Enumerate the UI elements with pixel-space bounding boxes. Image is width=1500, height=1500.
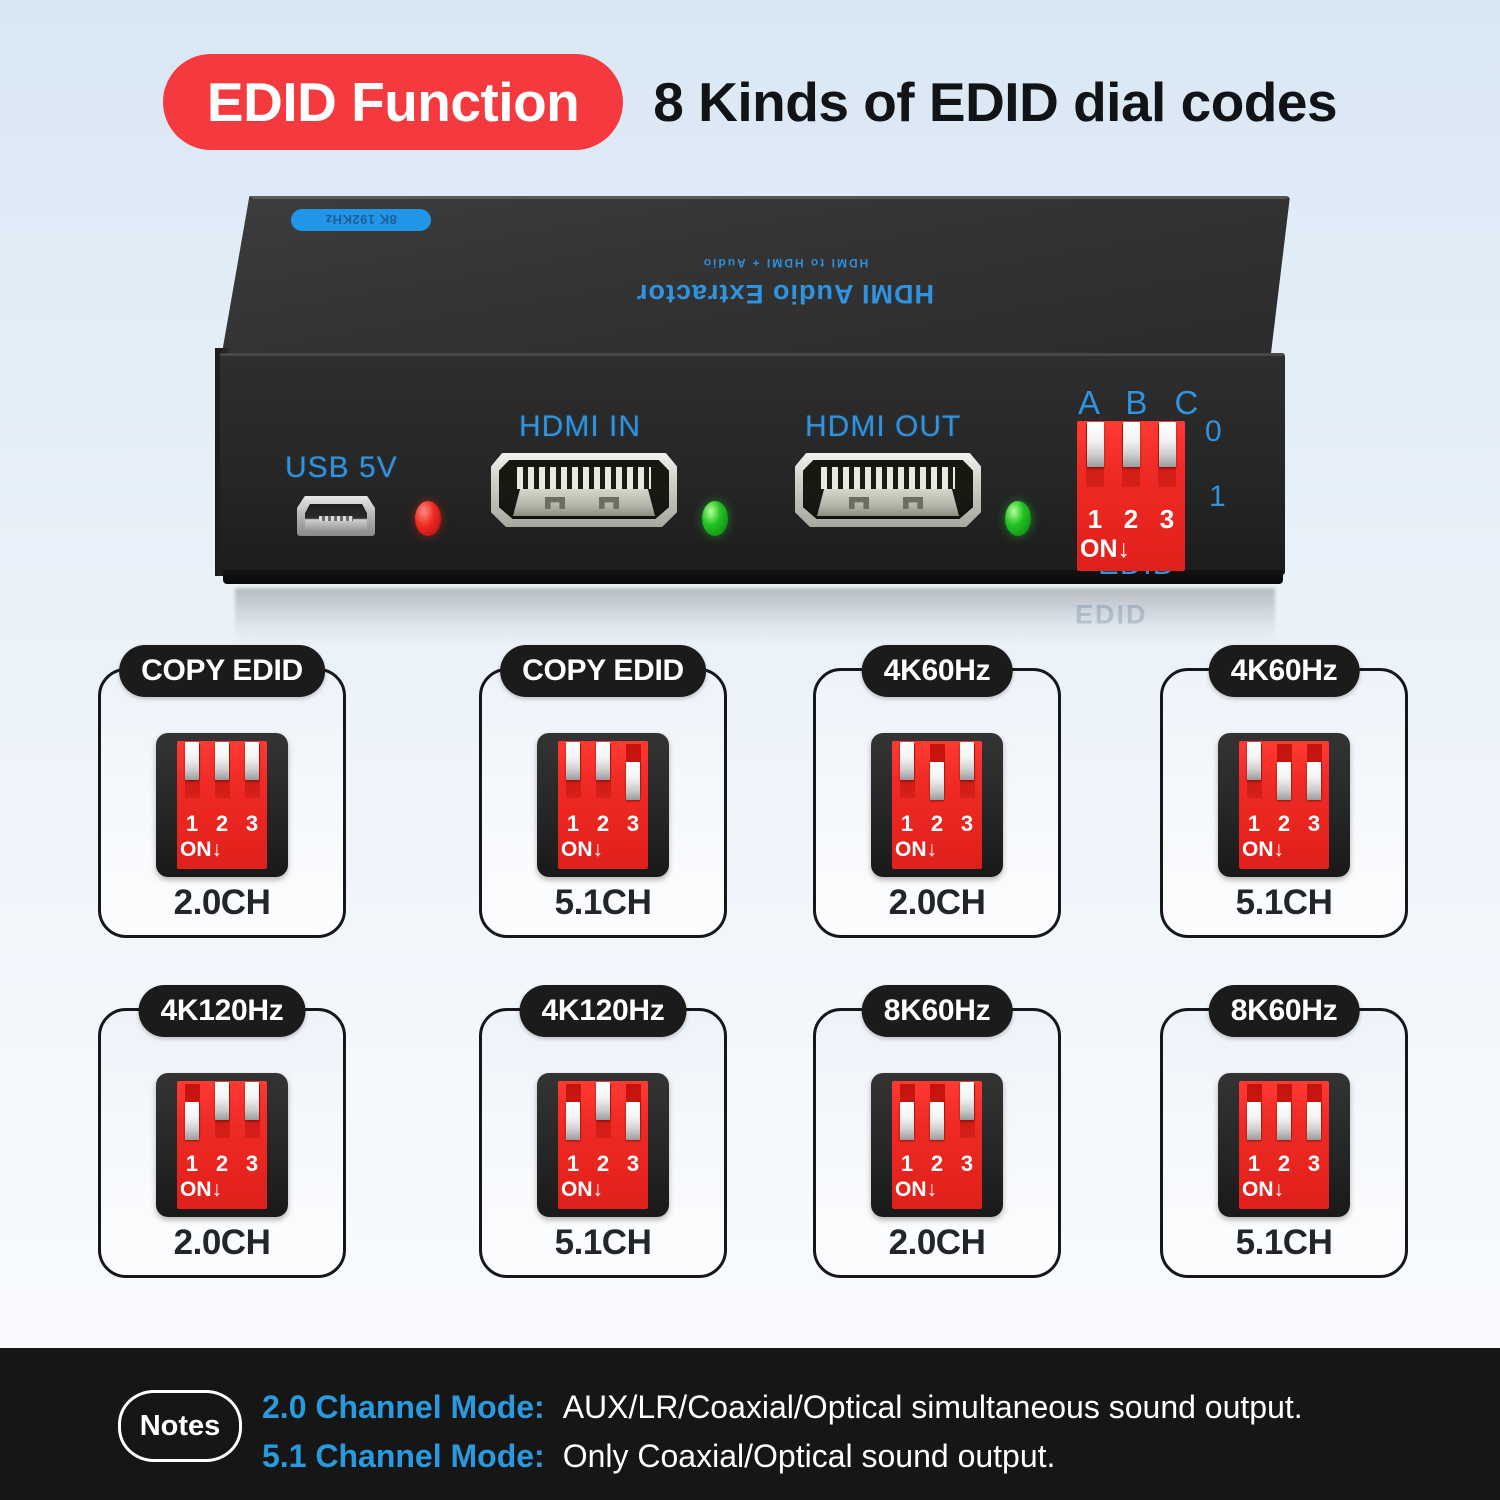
dip-switch[interactable]: 123ON↓ [177, 1081, 267, 1209]
dip-number-label: 3 [1149, 504, 1185, 535]
dial-code-card[interactable]: 8K60Hz123ON↓2.0CH [813, 1008, 1061, 1278]
dial-code-card[interactable]: COPY EDID123ON↓5.1CH [479, 668, 727, 938]
device-illustration: 8K 192KHz HDMI to HDMI + Audio HDMI Audi… [215, 196, 1305, 636]
dip-on-label: ON↓ [561, 1178, 603, 1202]
usb-port-label: USB 5V [285, 451, 398, 485]
edid-function-pill: EDID Function [163, 54, 623, 150]
usb-micro-port [297, 496, 375, 536]
dip-number-label: 2 [922, 1151, 952, 1177]
notes-badge: Notes [118, 1390, 242, 1462]
device-dip-pos-0-label: 0 [1205, 415, 1222, 449]
dial-code-pill: 8K60Hz [862, 985, 1013, 1037]
dial-code-pill-label: COPY EDID [522, 654, 684, 688]
dip-number-label: 3 [237, 811, 267, 837]
channel-mode-label: 5.1CH [482, 883, 724, 923]
dip-lever-1[interactable] [185, 1102, 199, 1140]
dip-lever-2[interactable] [930, 1102, 944, 1140]
hdmi-out-pins [821, 467, 955, 489]
notes-footer: Notes 2.0 Channel Mode: AUX/LR/Coaxial/O… [0, 1348, 1500, 1500]
device-dip-switch[interactable]: 123ON↓ [1077, 421, 1185, 571]
channel-mode-label: 2.0CH [101, 1223, 343, 1263]
dip-lever-3[interactable] [1307, 1102, 1321, 1140]
dip-lever-3[interactable] [1159, 422, 1176, 467]
note-value: Only Coaxial/Optical sound output. [563, 1438, 1056, 1475]
channel-mode-label: 2.0CH [816, 883, 1058, 923]
dial-code-card[interactable]: 4K60Hz123ON↓5.1CH [1160, 668, 1408, 938]
dip-lever-3[interactable] [1307, 762, 1321, 800]
dip-number-label: 2 [588, 811, 618, 837]
dial-code-card[interactable]: 4K120Hz123ON↓2.0CH [98, 1008, 346, 1278]
dial-code-pill: COPY EDID [500, 645, 706, 697]
device-top-title: HDMI Audio Extractor [385, 278, 1185, 309]
dip-number-label: 2 [207, 1151, 237, 1177]
dip-lever-3[interactable] [245, 742, 259, 780]
edid-dial-code-grid: COPY EDID123ON↓2.0CHCOPY EDID123ON↓5.1CH… [98, 668, 1408, 1288]
dip-lever-2[interactable] [215, 742, 229, 780]
note-row: 5.1 Channel Mode: Only Coaxial/Optical s… [262, 1438, 1055, 1475]
dip-lever-1[interactable] [185, 742, 199, 780]
dip-lever-1[interactable] [566, 742, 580, 780]
dial-code-pill-label: 4K60Hz [1231, 654, 1338, 688]
power-led-red [415, 501, 441, 536]
device-spec-badge: 8K 192KHz [291, 209, 431, 231]
dip-lever-2[interactable] [1277, 762, 1291, 800]
edid-function-label: EDID Function [207, 70, 579, 134]
device-reflection-label: EDID [1075, 598, 1148, 629]
dip-lever-2[interactable] [1277, 1102, 1291, 1140]
dip-lever-3[interactable] [960, 742, 974, 780]
dip-switch-housing: 123ON↓ [537, 733, 669, 877]
dip-number-label: 1 [1239, 811, 1269, 837]
channel-mode-label: 2.0CH [101, 883, 343, 923]
dip-switch-housing: 123ON↓ [156, 1073, 288, 1217]
dip-number-label: 1 [892, 1151, 922, 1177]
dip-lever-1[interactable] [566, 1102, 580, 1140]
dial-code-pill-label: 8K60Hz [884, 994, 991, 1028]
dial-code-pill-label: 4K60Hz [884, 654, 991, 688]
dip-on-label: ON↓ [1080, 535, 1130, 564]
dip-number-label: 2 [1269, 811, 1299, 837]
dial-code-pill: 8K60Hz [1209, 985, 1360, 1037]
dip-number-label: 2 [922, 811, 952, 837]
dip-number-label: 3 [237, 1151, 267, 1177]
dip-number-label: 1 [558, 1151, 588, 1177]
dip-switch-housing: 123ON↓ [871, 1073, 1003, 1217]
device-spec-badge-label: 8K 192KHz [325, 213, 397, 228]
dip-on-label: ON↓ [561, 838, 603, 862]
hdmi-out-port [795, 453, 981, 527]
note-key: 5.1 Channel Mode: [262, 1438, 545, 1475]
channel-mode-label: 5.1CH [1163, 883, 1405, 923]
device-front-edge [220, 353, 1285, 356]
dial-code-pill-label: 8K60Hz [1231, 994, 1338, 1028]
dial-code-card[interactable]: COPY EDID123ON↓2.0CH [98, 668, 346, 938]
channel-mode-label: 5.1CH [482, 1223, 724, 1263]
infographic-page: EDID Function 8 Kinds of EDID dial codes… [0, 0, 1500, 1500]
dip-on-label: ON↓ [895, 1178, 937, 1202]
dip-number-label: 1 [558, 811, 588, 837]
hdmi-in-pins [517, 467, 651, 489]
dip-lever-1[interactable] [900, 742, 914, 780]
dial-code-pill-label: COPY EDID [141, 654, 303, 688]
hdmi-out-label: HDMI OUT [805, 410, 961, 444]
hdmi-in-label: HDMI IN [519, 410, 641, 444]
dip-switch-housing: 123ON↓ [1218, 733, 1350, 877]
dip-switch[interactable]: 123ON↓ [558, 741, 648, 869]
dip-switch-housing: 123ON↓ [871, 733, 1003, 877]
dip-on-label: ON↓ [895, 838, 937, 862]
dip-lever-3[interactable] [245, 1082, 259, 1120]
dip-switch[interactable]: 123ON↓ [892, 1081, 982, 1209]
dip-lever-3[interactable] [626, 1102, 640, 1140]
hdmi-out-led-green [1005, 501, 1031, 536]
dip-switch[interactable]: 123ON↓ [1239, 1081, 1329, 1209]
dip-number-label: 1 [1239, 1151, 1269, 1177]
dip-number-label: 3 [618, 1151, 648, 1177]
hdmi-in-tongue [513, 489, 655, 516]
dial-code-pill: 4K60Hz [1209, 645, 1360, 697]
dial-code-card[interactable]: 4K120Hz123ON↓5.1CH [479, 1008, 727, 1278]
dip-lever-1[interactable] [1247, 742, 1261, 780]
dip-switch[interactable]: 123ON↓ [892, 741, 982, 869]
dip-lever-2[interactable] [930, 762, 944, 800]
dip-switch-housing: 123ON↓ [156, 733, 288, 877]
dip-lever-2[interactable] [1123, 422, 1140, 467]
hdmi-out-tongue [817, 489, 959, 516]
dip-on-label: ON↓ [180, 838, 222, 862]
dip-lever-2[interactable] [215, 1082, 229, 1120]
note-key: 2.0 Channel Mode: [262, 1389, 545, 1426]
dial-code-card[interactable]: 8K60Hz123ON↓5.1CH [1160, 1008, 1408, 1278]
hdmi-in-port [491, 453, 677, 527]
dip-switch[interactable]: 123ON↓ [1239, 741, 1329, 869]
hdmi-in-led-green [702, 501, 728, 536]
dial-code-pill-label: 4K120Hz [542, 994, 665, 1028]
header-subtitle: 8 Kinds of EDID dial codes [653, 70, 1337, 134]
dip-lever-3[interactable] [960, 1082, 974, 1120]
dip-lever-1[interactable] [900, 1102, 914, 1140]
dip-on-label: ON↓ [1242, 1178, 1284, 1202]
dip-number-label: 3 [952, 1151, 982, 1177]
device-dip-abc-label: A B C [1078, 384, 1207, 422]
dip-number-label: 1 [892, 811, 922, 837]
dial-code-pill-label: 4K120Hz [161, 994, 284, 1028]
device-top-highlight [249, 196, 1290, 199]
dip-lever-2[interactable] [596, 742, 610, 780]
dip-number-label: 2 [1113, 504, 1149, 535]
dial-code-pill: 4K120Hz [139, 985, 306, 1037]
usb-pins [319, 516, 353, 521]
dip-number-label: 3 [618, 811, 648, 837]
dip-switch-housing: 123ON↓ [537, 1073, 669, 1217]
device-dip-pos-1-label: 1 [1209, 480, 1226, 514]
notes-badge-label: Notes [140, 1410, 221, 1443]
note-row: 2.0 Channel Mode: AUX/LR/Coaxial/Optical… [262, 1389, 1303, 1426]
dip-number-label: 1 [177, 811, 207, 837]
channel-mode-label: 2.0CH [816, 1223, 1058, 1263]
dip-lever-3[interactable] [626, 762, 640, 800]
dip-number-label: 3 [1299, 1151, 1329, 1177]
dip-lever-1[interactable] [1087, 422, 1104, 467]
dip-on-label: ON↓ [180, 1178, 222, 1202]
dial-code-card[interactable]: 4K60Hz123ON↓2.0CH [813, 668, 1061, 938]
dip-number-label: 3 [952, 811, 982, 837]
dip-on-label: ON↓ [1242, 838, 1284, 862]
dip-number-label: 3 [1299, 811, 1329, 837]
dip-number-label: 2 [207, 811, 237, 837]
note-value: AUX/LR/Coaxial/Optical simultaneous soun… [563, 1389, 1303, 1426]
dial-code-pill: 4K120Hz [520, 985, 687, 1037]
dip-number-label: 2 [1269, 1151, 1299, 1177]
device-top-subtitle: HDMI to HDMI + Audio [385, 256, 1185, 270]
dip-switch-housing: 123ON↓ [1218, 1073, 1350, 1217]
dial-code-pill: 4K60Hz [862, 645, 1013, 697]
dip-number-label: 1 [177, 1151, 207, 1177]
header: EDID Function 8 Kinds of EDID dial codes [0, 48, 1500, 156]
dial-code-pill: COPY EDID [119, 645, 325, 697]
dip-number-label: 2 [588, 1151, 618, 1177]
dip-switch[interactable]: 123ON↓ [177, 741, 267, 869]
channel-mode-label: 5.1CH [1163, 1223, 1405, 1263]
dip-lever-2[interactable] [596, 1082, 610, 1120]
dip-switch[interactable]: 123ON↓ [558, 1081, 648, 1209]
dip-number-label: 1 [1077, 504, 1113, 535]
dip-lever-1[interactable] [1247, 1102, 1261, 1140]
